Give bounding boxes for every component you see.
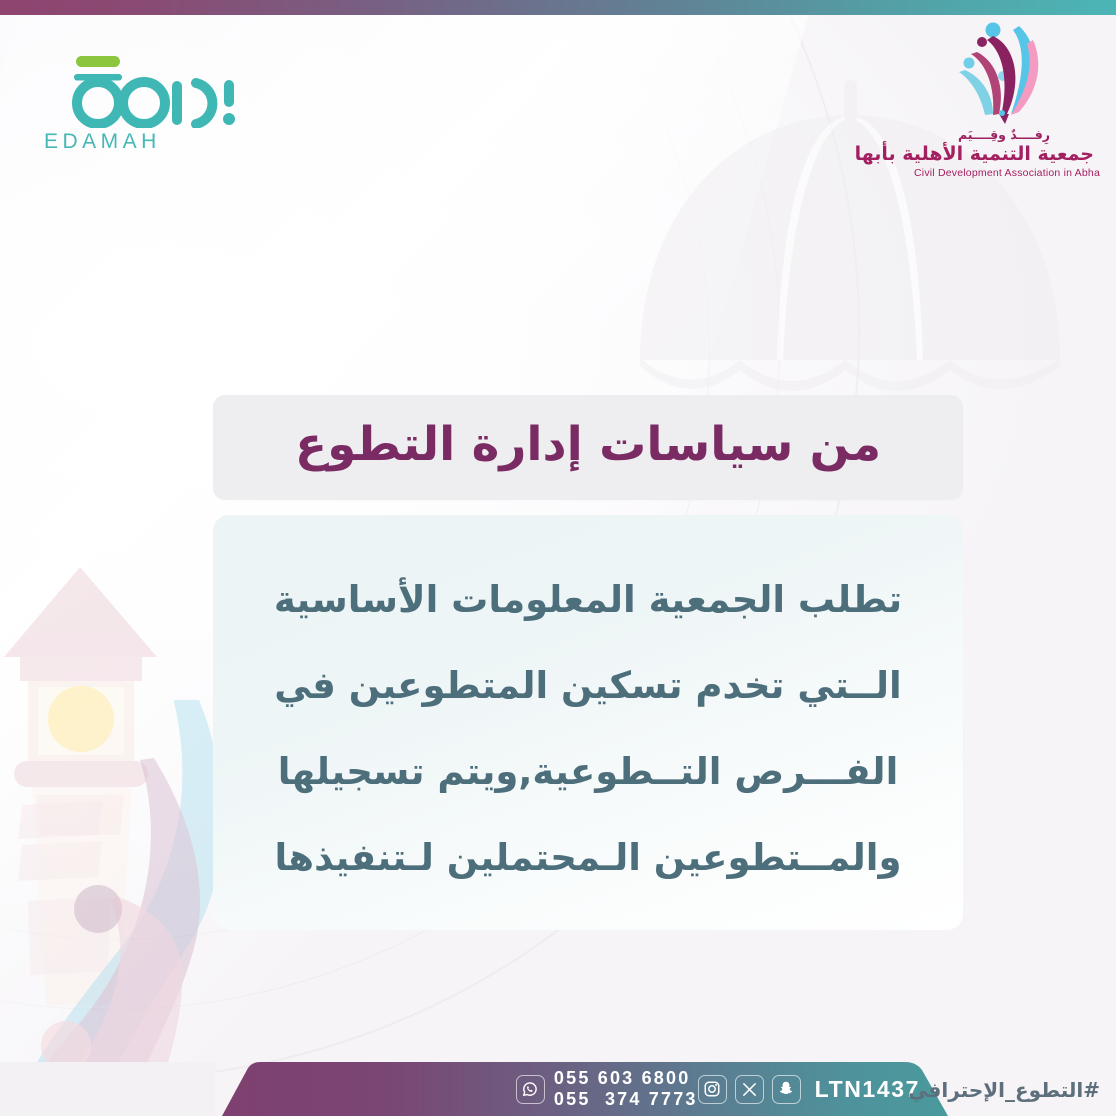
body-line: تطلب الجمعية المعلومات الأساسية xyxy=(249,557,927,643)
phone-number-1[interactable]: 055 603 6800 xyxy=(554,1068,698,1089)
hashtag: #التطوع_الإحترافي xyxy=(908,1078,1100,1102)
whatsapp-icon[interactable] xyxy=(516,1075,545,1104)
cda-tagline: رِفــــدٌ وقِــــيَم xyxy=(914,127,1094,142)
top-gradient-strip xyxy=(0,0,1116,15)
title-card: من سياسات إدارة التطوع xyxy=(213,395,963,500)
snapchat-icon[interactable] xyxy=(772,1075,801,1104)
body-line: الــتي تخدم تسكين المتطوعين في xyxy=(249,643,927,729)
body-line: الفـــرص التــطوعية,ويتم تسجيلها xyxy=(249,729,927,815)
body-card: تطلب الجمعية المعلومات الأساسية الــتي ت… xyxy=(213,515,963,930)
phone-number-2[interactable]: 055 374 7773 xyxy=(554,1089,698,1110)
social-handle[interactable]: LTN1437 xyxy=(815,1076,920,1103)
cda-name-arabic: جمعية التنمية الأهلية بأبها xyxy=(914,144,1094,166)
cda-abha-logo: رِفــــدٌ وقِــــيَم جمعية التنمية الأهل… xyxy=(914,18,1094,193)
x-twitter-icon[interactable] xyxy=(735,1075,764,1104)
cda-abha-emblem-icon xyxy=(949,18,1059,126)
poster-canvas: EDAMAH رِفــــدٌ وقِــــيَم جمعية التنمي… xyxy=(0,0,1116,1116)
edamah-logo-subtitle: EDAMAH xyxy=(44,130,240,154)
instagram-icon[interactable] xyxy=(698,1075,727,1104)
phone-numbers: 055 603 6800 055 374 7773 xyxy=(554,1068,698,1110)
cda-name-english: Civil Development Association in Abha xyxy=(914,167,1094,179)
body-line: والمــتطوعين الـمحتملين لـتنفيذها xyxy=(249,815,927,901)
contact-group[interactable]: 055 603 6800 055 374 7773 xyxy=(516,1068,698,1110)
footer-content: LTN1437 055 603 6800 055 374 7773 xyxy=(300,1062,920,1116)
edamah-wordmark-icon xyxy=(40,56,240,128)
page-title: من سياسات إدارة التطوع xyxy=(295,421,881,474)
edamah-logo: EDAMAH xyxy=(40,56,240,156)
social-links-group[interactable]: LTN1437 xyxy=(698,1075,920,1104)
